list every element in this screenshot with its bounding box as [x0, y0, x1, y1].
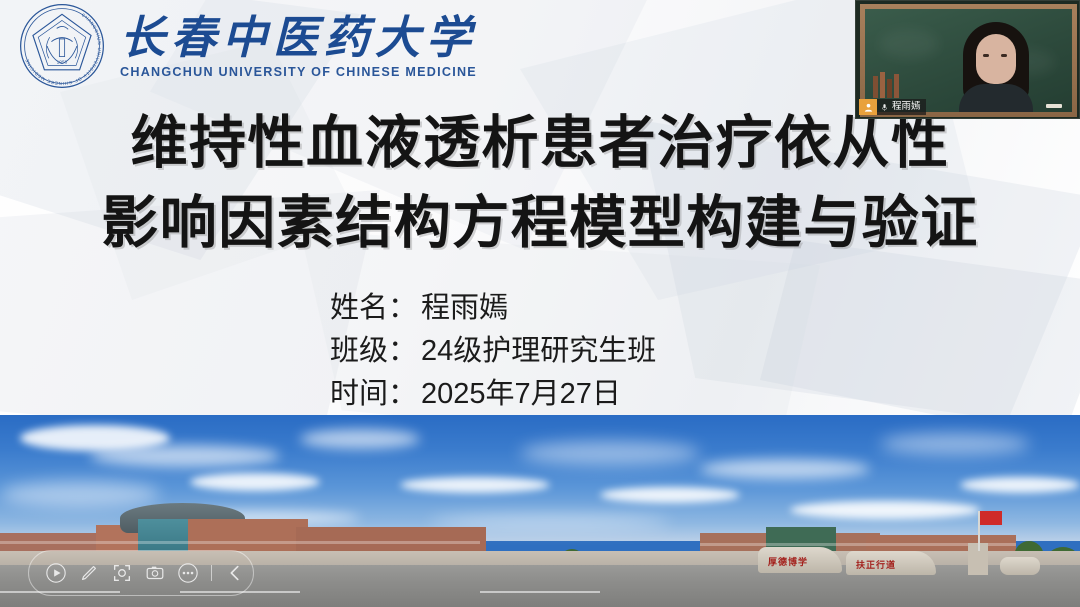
slide-title: 维持性血液透析患者治疗依从性 影响因素结构方程模型构建与验证 [0, 104, 1080, 264]
window-row [0, 541, 480, 544]
cloud [600, 487, 740, 503]
book-stack [873, 72, 899, 98]
university-name-cn: 长春中医药大学 [120, 15, 477, 62]
book [887, 79, 892, 98]
chalkboard [865, 9, 1072, 112]
collapse-button[interactable] [220, 558, 250, 588]
avatar [859, 99, 877, 115]
info-row-name: 姓名： 程雨嫣 [330, 288, 656, 329]
presentation-slide: 1958 CHANGCHUN UNIVERSITY OF CHINESE MED… [0, 0, 1080, 607]
title-line-2: 影响因素结构方程模型构建与验证 [0, 184, 1080, 264]
participant-name: 程雨嫣 [892, 102, 921, 112]
cloud [700, 459, 870, 479]
info-value-class: 24级护理研究生班 [421, 331, 656, 372]
info-row-date: 时间： 2025年7月27日 [330, 374, 656, 415]
info-value-name: 程雨嫣 [421, 288, 508, 329]
seal-year: 1958 [57, 60, 68, 66]
mic-icon [880, 102, 889, 113]
eye [983, 54, 989, 57]
chalk-stick [1046, 104, 1062, 108]
cloud [90, 445, 280, 467]
book [873, 76, 878, 98]
info-label-class: 班级： [330, 331, 417, 372]
person-icon [863, 102, 874, 113]
cloud [880, 433, 1030, 455]
eye [1001, 54, 1007, 57]
play-button[interactable] [41, 558, 71, 588]
cloud [960, 477, 1080, 493]
info-label-date: 时间： [330, 374, 417, 415]
cloud [790, 501, 980, 519]
wordmark: 长春中医药大学 CHANGCHUN UNIVERSITY OF CHINESE … [120, 15, 477, 79]
presenter-info: 姓名： 程雨嫣 班级： 24级护理研究生班 时间： 2025年7月27日 [330, 288, 656, 418]
cloud [400, 477, 550, 493]
participant-name-badge: 程雨嫣 [859, 99, 926, 115]
participant-video-tile[interactable]: 程雨嫣 [855, 0, 1080, 119]
seal-ring-text: CHANGCHUN UNIVERSITY OF CHINESE MEDICINE [24, 12, 102, 86]
focus-frame-icon [111, 562, 133, 584]
cloud [0, 481, 160, 507]
university-seal-icon: 1958 CHANGCHUN UNIVERSITY OF CHINESE MED… [18, 2, 106, 90]
stone-lion [1000, 557, 1040, 575]
road-marking [480, 591, 600, 593]
ellipsis-icon [177, 562, 199, 584]
participant-avatar-video [957, 16, 1035, 112]
camera-icon [144, 562, 166, 584]
monument-text-right: 扶正行道 [856, 558, 896, 571]
play-icon [45, 562, 67, 584]
name-pill: 程雨嫣 [877, 99, 926, 115]
cloud [300, 429, 420, 449]
university-name-en: CHANGCHUN UNIVERSITY OF CHINESE MEDICINE [120, 65, 477, 79]
flag-icon [980, 511, 1002, 525]
book [880, 72, 885, 98]
chalk-smudge [879, 29, 939, 59]
focus-button[interactable] [107, 558, 137, 588]
cloud [190, 473, 320, 491]
torso [959, 84, 1033, 112]
face [976, 34, 1016, 84]
university-brand-lockup: 1958 CHANGCHUN UNIVERSITY OF CHINESE MED… [18, 2, 477, 90]
capture-button[interactable] [140, 558, 170, 588]
media-toolbar[interactable] [28, 550, 254, 596]
more-button[interactable] [173, 558, 203, 588]
info-value-date: 2025年7月27日 [421, 374, 621, 415]
info-row-class: 班级： 24级护理研究生班 [330, 331, 656, 372]
monument-text-left: 厚德博学 [768, 555, 808, 568]
toolbar-divider [211, 565, 212, 581]
chevron-left-icon [224, 562, 246, 584]
pencil-icon [78, 562, 100, 584]
info-label-name: 姓名： [330, 288, 417, 329]
annotate-button[interactable] [74, 558, 104, 588]
book [894, 74, 899, 98]
cloud [520, 441, 700, 465]
